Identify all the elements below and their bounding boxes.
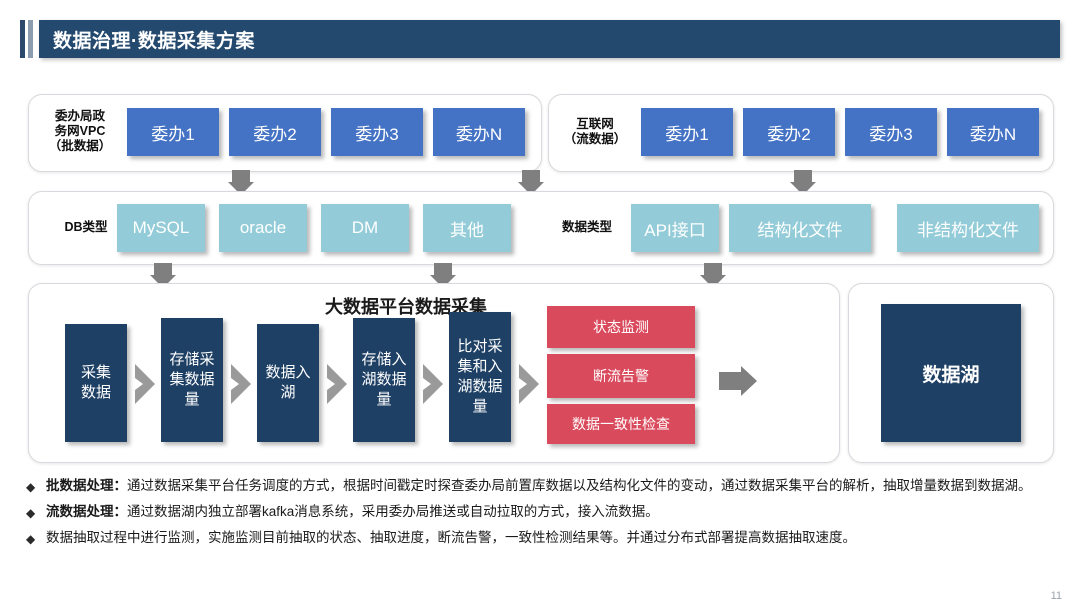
source-box-net-2[interactable]: 委办2 (743, 108, 835, 156)
data-type-label: 数据类型 (547, 220, 627, 235)
process-step-4[interactable]: 存储入 湖数据 量 (353, 318, 415, 442)
source-panel-internet: 互联网 （流数据） 委办1 委办2 委办3 委办N (548, 94, 1054, 172)
type-panel: DB类型 MySQL oracle DM 其他 数据类型 API接口 结构化文件… (28, 191, 1054, 265)
db-type-box-other[interactable]: 其他 (423, 204, 511, 252)
bullet-bold-1: 批数据处理： (46, 478, 127, 493)
chevron-right-icon-1 (133, 362, 159, 406)
source-box-net-1[interactable]: 委办1 (641, 108, 733, 156)
right-arrow-icon-to-lake (719, 366, 757, 396)
process-step-1[interactable]: 采集 数据 (65, 324, 127, 442)
chevron-right-icon-3 (325, 362, 351, 406)
bullet-text-3: 数据抽取过程中进行监测，实施监测目前抽取的状态、抽取进度，断流告警，一致性检测结… (46, 526, 856, 549)
label-line: 互联网 (559, 117, 631, 132)
source-panel-internet-label: 互联网 （流数据） (559, 117, 631, 147)
bullet-text-2: 流数据处理：通过数据湖内独立部署kafka消息系统，采用委办局推送或自动拉取的方… (46, 500, 659, 523)
process-step-3[interactable]: 数据入 湖 (257, 324, 319, 442)
db-type-label: DB类型 (51, 220, 121, 235)
label-line: 委办局政 (43, 109, 117, 124)
monitor-box-status[interactable]: 状态监测 (547, 306, 695, 348)
data-lake-box[interactable]: 数据湖 (881, 304, 1021, 442)
bullet-bold-2: 流数据处理： (46, 504, 127, 519)
label-line: 务网VPC (43, 124, 117, 139)
title-accent-stripe-dark (20, 20, 25, 58)
diamond-bullet-icon: ◆ (26, 478, 38, 496)
bullet-item-2: ◆ 流数据处理：通过数据湖内独立部署kafka消息系统，采用委办局推送或自动拉取… (26, 500, 1052, 523)
label-line: （流数据） (559, 132, 631, 147)
db-type-box-dm[interactable]: DM (321, 204, 409, 252)
title-box: 数据治理·数据采集方案 (39, 20, 1060, 58)
diamond-bullet-icon: ◆ (26, 504, 38, 522)
bullet-body-1: 通过数据采集平台任务调度的方式，根据时间戳定时探查委办局前置库数据以及结构化文件… (127, 478, 1032, 493)
data-type-box-api[interactable]: API接口 (631, 204, 719, 252)
chevron-right-icon-5 (517, 362, 543, 406)
bullet-item-1: ◆ 批数据处理：通过数据采集平台任务调度的方式，根据时间戳定时探查委办局前置库数… (26, 474, 1052, 497)
db-type-box-oracle[interactable]: oracle (219, 204, 307, 252)
data-type-box-unstructured[interactable]: 非结构化文件 (897, 204, 1039, 252)
source-box-net-3[interactable]: 委办3 (845, 108, 937, 156)
source-panel-gov-label: 委办局政 务网VPC （批数据） (43, 109, 117, 154)
bullet-text-1: 批数据处理：通过数据采集平台任务调度的方式，根据时间戳定时探查委办局前置库数据以… (46, 474, 1032, 497)
db-type-box-mysql[interactable]: MySQL (117, 204, 205, 252)
chevron-right-icon-2 (229, 362, 255, 406)
chevron-right-icon-4 (421, 362, 447, 406)
source-box-gov-2[interactable]: 委办2 (229, 108, 321, 156)
page-number: 11 (1051, 590, 1062, 602)
source-box-gov-1[interactable]: 委办1 (127, 108, 219, 156)
monitor-box-consistency[interactable]: 数据一致性检查 (547, 404, 695, 444)
bullet-body-3: 数据抽取过程中进行监测，实施监测目前抽取的状态、抽取进度，断流告警，一致性检测结… (46, 530, 856, 545)
title-accent-stripe-light (28, 20, 33, 58)
source-box-gov-3[interactable]: 委办3 (331, 108, 423, 156)
monitor-box-alert[interactable]: 断流告警 (547, 354, 695, 398)
diamond-bullet-icon: ◆ (26, 530, 38, 548)
process-step-2[interactable]: 存储采 集数据 量 (161, 318, 223, 442)
bullet-item-3: ◆ 数据抽取过程中进行监测，实施监测目前抽取的状态、抽取进度，断流告警，一致性检… (26, 526, 1052, 549)
data-type-box-structured[interactable]: 结构化文件 (729, 204, 871, 252)
source-box-net-n[interactable]: 委办N (947, 108, 1039, 156)
bullet-list: ◆ 批数据处理：通过数据采集平台任务调度的方式，根据时间戳定时探查委办局前置库数… (26, 474, 1052, 552)
page-title: 数据治理·数据采集方案 (39, 26, 255, 53)
bullet-body-2: 通过数据湖内独立部署kafka消息系统，采用委办局推送或自动拉取的方式，接入流数… (127, 504, 659, 519)
process-step-5[interactable]: 比对采 集和入 湖数据 量 (449, 312, 511, 442)
slide-title-bar: 数据治理·数据采集方案 (20, 20, 1060, 58)
process-panel: 大数据平台数据采集 采集 数据 存储采 集数据 量 数据入 湖 存储入 湖数据 … (28, 283, 840, 463)
data-lake-panel: 数据湖 (848, 283, 1054, 463)
source-box-gov-n[interactable]: 委办N (433, 108, 525, 156)
source-panel-gov: 委办局政 务网VPC （批数据） 委办1 委办2 委办3 委办N (28, 94, 542, 172)
label-line: （批数据） (43, 139, 117, 154)
